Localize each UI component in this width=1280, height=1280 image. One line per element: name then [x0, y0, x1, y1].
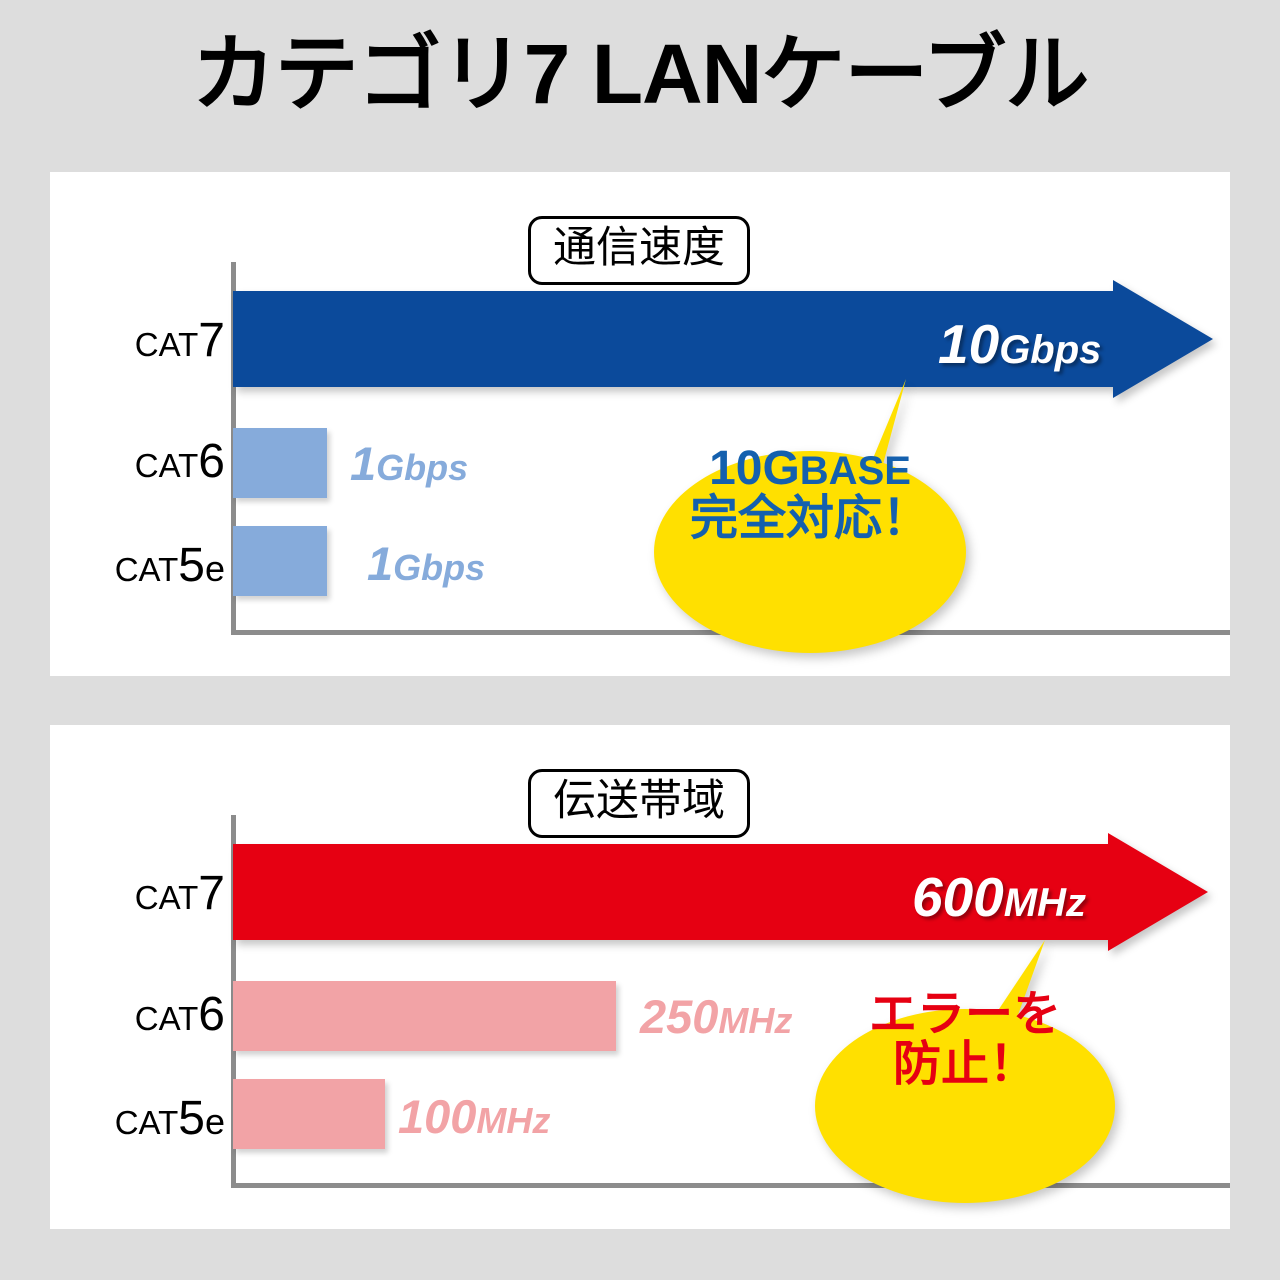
cat-number: 6: [198, 435, 225, 488]
cat-prefix: CAT: [135, 879, 199, 916]
value-label-cat7-bandwidth: 600MHz: [912, 870, 1086, 925]
value-unit: Gbps: [393, 547, 485, 588]
cat-number: 6: [198, 988, 225, 1041]
bar-cat6-bandwidth: [233, 981, 616, 1051]
cat-label-cat5e-bandwidth: CAT5e: [70, 1095, 225, 1143]
value-unit: MHz: [476, 1100, 550, 1141]
callout-bubble-error-prevention: [815, 940, 1115, 1205]
value-number: 600: [912, 866, 1004, 928]
section-heading-bandwidth: 伝送帯域: [528, 769, 750, 838]
cat-suffix: e: [205, 1101, 225, 1142]
bar-cat6-speed: [233, 428, 327, 498]
cat-number: 5: [178, 539, 205, 592]
value-number: 10: [938, 313, 999, 375]
cat-prefix: CAT: [135, 326, 199, 363]
cat-number: 7: [198, 867, 225, 920]
value-number: 100: [398, 1090, 476, 1143]
value-unit: Gbps: [999, 328, 1101, 372]
cat-suffix: e: [205, 548, 225, 589]
cat-label-cat6-speed: CAT6: [70, 438, 225, 486]
chart-bandwidth: 伝送帯域 CAT7 600MHz CAT6 250MHz CAT5e 1: [50, 725, 1230, 1229]
cat-prefix: CAT: [115, 1104, 179, 1141]
bar-cat5e-speed: [233, 526, 327, 596]
page-title: カテゴリ7 LANケーブル: [0, 32, 1280, 116]
value-label-cat5e-speed: 1Gbps: [367, 540, 485, 587]
cat-label-cat5e-speed: CAT5e: [70, 542, 225, 590]
value-unit: MHz: [1004, 881, 1086, 925]
cat-prefix: CAT: [135, 1000, 199, 1037]
value-unit: MHz: [718, 1000, 792, 1041]
section-heading-speed: 通信速度: [528, 216, 750, 285]
panel-bandwidth: 伝送帯域 CAT7 600MHz CAT6 250MHz CAT5e 1: [50, 725, 1230, 1229]
value-number: 1: [367, 537, 393, 590]
bar-cat5e-bandwidth: [233, 1079, 385, 1149]
value-number: 250: [640, 990, 718, 1043]
cat-label-cat6-bandwidth: CAT6: [70, 991, 225, 1039]
chart-speed: 通信速度 CAT7 10Gbps CAT6 1Gbps CAT5e 1G: [50, 172, 1230, 676]
panel-speed: 通信速度 CAT7 10Gbps CAT6 1Gbps CAT5e 1G: [50, 172, 1230, 676]
cat-number: 7: [198, 314, 225, 367]
cat-prefix: CAT: [135, 447, 199, 484]
value-label-cat6-speed: 1Gbps: [350, 440, 468, 487]
cat-label-cat7-speed: CAT7: [70, 317, 225, 365]
cat-number: 5: [178, 1092, 205, 1145]
callout-bubble-10gbase: [654, 379, 966, 654]
value-label-cat7-speed: 10Gbps: [938, 317, 1101, 372]
value-label-cat6-bandwidth: 250MHz: [640, 993, 792, 1040]
cat-label-cat7-bandwidth: CAT7: [70, 870, 225, 918]
value-number: 1: [350, 437, 376, 490]
value-unit: Gbps: [376, 447, 468, 488]
cat-prefix: CAT: [115, 551, 179, 588]
value-label-cat5e-bandwidth: 100MHz: [398, 1093, 550, 1140]
